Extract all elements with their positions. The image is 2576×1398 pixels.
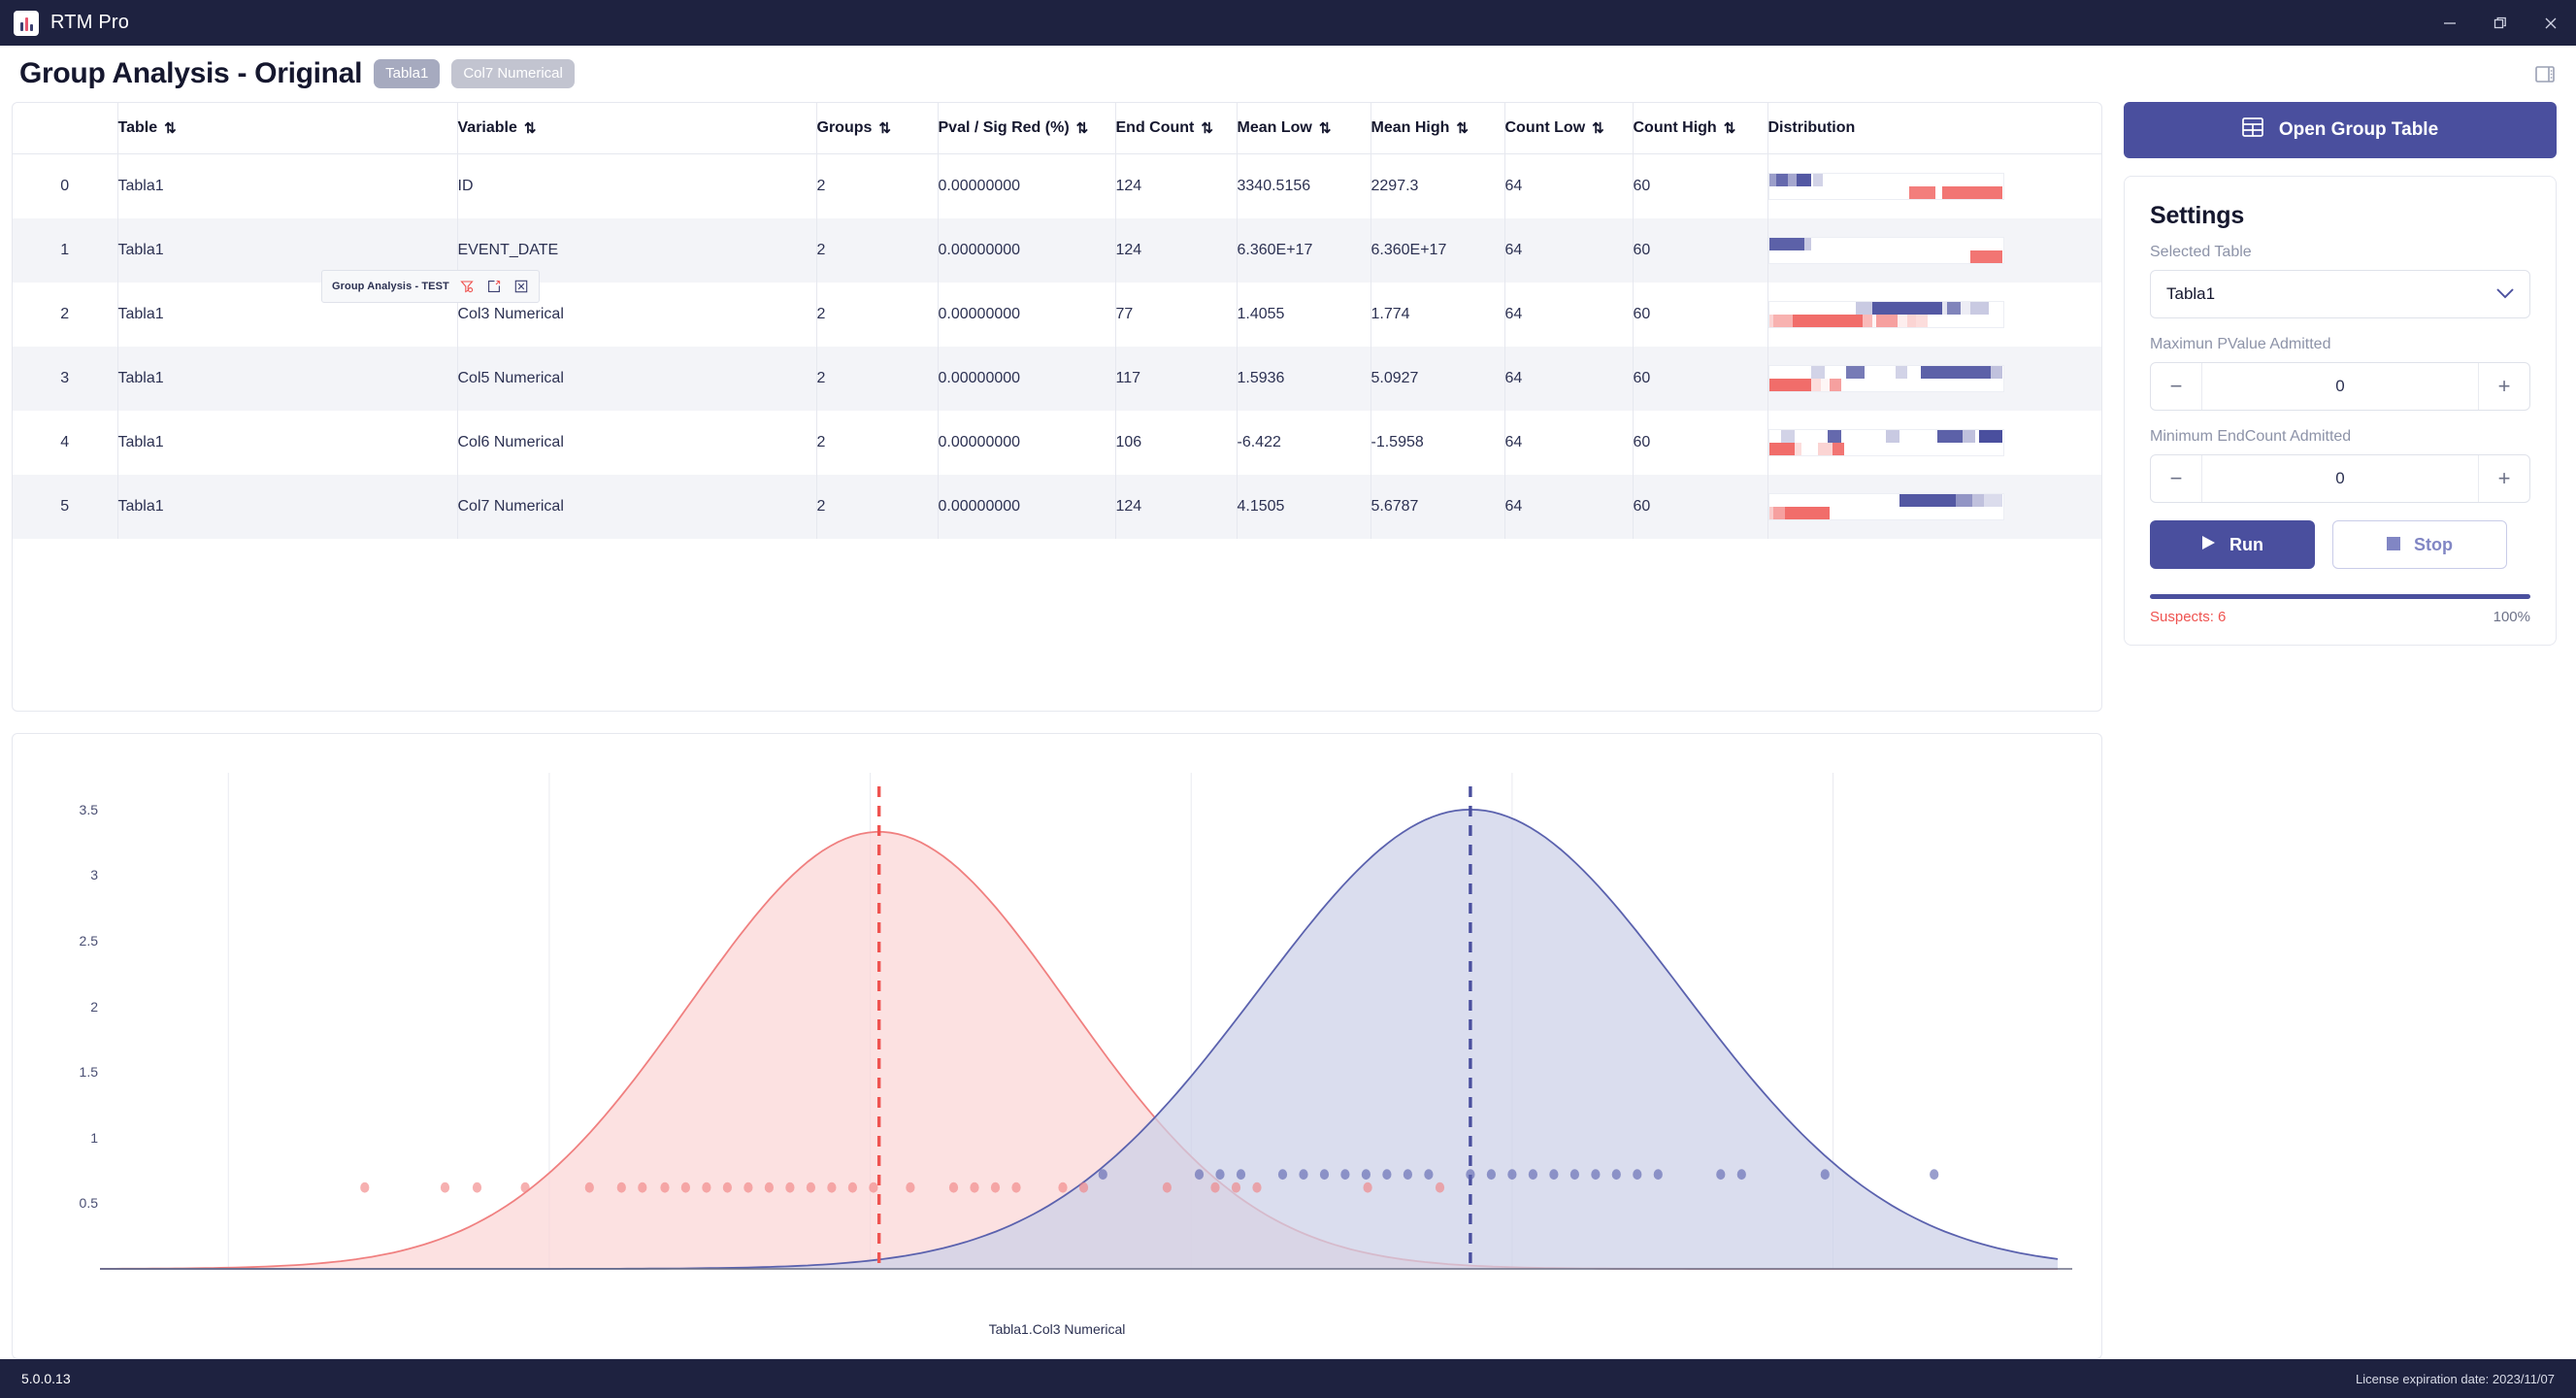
progress-bar	[2150, 594, 2530, 599]
min-endcount-increment-button[interactable]: +	[2479, 455, 2529, 502]
cell-groups: 2	[816, 218, 938, 283]
main-content: Table⇅ Variable⇅ Groups⇅ Pval / Sig Red …	[0, 102, 2576, 1359]
license-expiration: License expiration date: 2023/11/07	[2356, 1372, 2555, 1386]
cell-mean-high: 5.6787	[1371, 475, 1504, 539]
cell-distribution[interactable]	[1767, 411, 2101, 475]
cell-end-count: 106	[1115, 411, 1237, 475]
cell-count-low: 64	[1504, 475, 1633, 539]
cell-end-count: 117	[1115, 347, 1237, 411]
cell-table: Tabla1	[117, 347, 457, 411]
selected-table-value: Tabla1	[2166, 284, 2215, 304]
cell-index: 3	[13, 347, 117, 411]
cell-distribution[interactable]	[1767, 154, 2101, 219]
settings-title: Settings	[2150, 202, 2530, 230]
cell-distribution[interactable]	[1767, 218, 2101, 283]
chart-y-tick: 3.5	[80, 802, 98, 817]
col-header-pval-label: Pval / Sig Red (%)	[939, 119, 1070, 137]
window-titlebar: RTM Pro	[0, 0, 2576, 46]
cell-groups: 2	[816, 475, 938, 539]
cell-mean-low: -6.422	[1237, 411, 1371, 475]
table-row[interactable]: 0Tabla1ID20.000000001243340.51562297.364…	[13, 154, 2101, 219]
cell-groups: 2	[816, 411, 938, 475]
cell-variable: Col5 Numerical	[457, 347, 816, 411]
sort-updown-icon[interactable]: ⇅	[1076, 121, 1087, 136]
cell-mean-low: 6.360E+17	[1237, 218, 1371, 283]
cell-distribution[interactable]	[1767, 283, 2101, 347]
cell-count-high: 60	[1633, 218, 1767, 283]
cell-count-low: 64	[1504, 347, 1633, 411]
cell-mean-high: 1.774	[1371, 283, 1504, 347]
cell-pval: 0.00000000	[938, 475, 1115, 539]
distribution-chart: 0.511.522.533.5 11.21.41.61.82 Tabla1.Co…	[13, 734, 2101, 1358]
chart-y-tick: 1.5	[80, 1064, 98, 1080]
col-header-end-count[interactable]: End Count⇅	[1115, 103, 1237, 154]
stop-button[interactable]: Stop	[2332, 520, 2507, 569]
cell-count-high: 60	[1633, 283, 1767, 347]
cell-groups: 2	[816, 347, 938, 411]
col-header-mean-high[interactable]: Mean High⇅	[1371, 103, 1504, 154]
min-endcount-label: Minimum EndCount Admitted	[2150, 428, 2530, 446]
cell-mean-high: 6.360E+17	[1371, 218, 1504, 283]
col-header-variable-label: Variable	[458, 119, 517, 137]
cell-groups: 2	[816, 283, 938, 347]
header-chip-table[interactable]: Tabla1	[374, 59, 440, 88]
cell-count-low: 64	[1504, 283, 1633, 347]
close-box-icon[interactable]	[512, 278, 531, 296]
table-row[interactable]: 4Tabla1Col6 Numerical20.00000000106-6.42…	[13, 411, 2101, 475]
cell-count-low: 64	[1504, 411, 1633, 475]
cell-end-count: 124	[1115, 154, 1237, 219]
cell-count-high: 60	[1633, 347, 1767, 411]
sort-updown-icon[interactable]: ⇅	[1319, 121, 1330, 136]
restore-icon[interactable]	[2475, 0, 2526, 46]
max-pvalue-label: Maximun PValue Admitted	[2150, 336, 2530, 353]
app-logo-icon	[14, 11, 39, 36]
cell-end-count: 124	[1115, 218, 1237, 283]
col-header-pval[interactable]: Pval / Sig Red (%)⇅	[938, 103, 1115, 154]
cell-pval: 0.00000000	[938, 283, 1115, 347]
chart-svg	[13, 734, 2101, 1358]
cell-variable: Col6 Numerical	[457, 411, 816, 475]
cell-index: 4	[13, 411, 117, 475]
chart-y-tick: 0.5	[80, 1195, 98, 1211]
selected-table-select[interactable]: Tabla1	[2150, 270, 2530, 318]
close-icon[interactable]	[2526, 0, 2576, 46]
col-header-mean-high-label: Mean High	[1371, 119, 1450, 137]
header-chip-column[interactable]: Col7 Numerical	[451, 59, 575, 88]
page-header: Group Analysis - Original Tabla1 Col7 Nu…	[0, 46, 2576, 102]
cell-count-high: 60	[1633, 154, 1767, 219]
cell-index: 5	[13, 475, 117, 539]
progress-legend: Suspects: 6 100%	[2150, 609, 2530, 625]
minimize-icon[interactable]	[2425, 0, 2475, 46]
chevron-down-icon	[2496, 284, 2514, 304]
cell-index: 0	[13, 154, 117, 219]
cell-distribution[interactable]	[1767, 475, 2101, 539]
cell-mean-high: 5.0927	[1371, 347, 1504, 411]
progress-percent: 100%	[2493, 609, 2530, 625]
col-header-mean-low[interactable]: Mean Low⇅	[1237, 103, 1371, 154]
cell-variable: Col7 Numerical	[457, 475, 816, 539]
table-grid-icon	[2242, 117, 2263, 143]
cell-mean-high: 2297.3	[1371, 154, 1504, 219]
col-header-count-low-label: Count Low	[1505, 119, 1586, 137]
chart-y-tick: 2.5	[80, 933, 98, 949]
cell-index: 2	[13, 283, 117, 347]
cell-table: Tabla1	[117, 154, 457, 219]
distribution-chart-card: 0.511.522.533.5 11.21.41.61.82 Tabla1.Co…	[12, 733, 2102, 1359]
cell-count-low: 64	[1504, 154, 1633, 219]
cell-count-low: 64	[1504, 218, 1633, 283]
col-header-count-high-label: Count High	[1634, 119, 1717, 137]
suspects-count: Suspects: 6	[2150, 609, 2226, 625]
cell-pval: 0.00000000	[938, 347, 1115, 411]
toggle-side-panel-icon[interactable]	[2535, 66, 2555, 83]
selected-table-label: Selected Table	[2150, 244, 2530, 261]
sort-updown-icon[interactable]: ⇅	[1592, 121, 1602, 136]
stop-icon	[2387, 535, 2400, 555]
max-pvalue-input[interactable]: 0	[2201, 363, 2479, 410]
max-pvalue-stepper[interactable]: − 0 +	[2150, 362, 2530, 411]
results-table-body: 0Tabla1ID20.000000001243340.51562297.364…	[13, 154, 2101, 540]
results-table-card: Table⇅ Variable⇅ Groups⇅ Pval / Sig Red …	[12, 102, 2102, 712]
cell-count-high: 60	[1633, 411, 1767, 475]
cell-end-count: 124	[1115, 475, 1237, 539]
chart-x-axis-title: Tabla1.Col3 Numerical	[13, 1321, 2101, 1337]
col-header-index	[13, 103, 117, 154]
col-header-distribution: Distribution	[1767, 103, 2101, 154]
window-controls	[2425, 0, 2576, 46]
sort-updown-icon[interactable]: ⇅	[164, 121, 175, 136]
min-endcount-decrement-button[interactable]: −	[2151, 455, 2201, 502]
col-header-distribution-label: Distribution	[1768, 119, 1856, 136]
col-header-mean-low-label: Mean Low	[1238, 119, 1312, 137]
cell-end-count: 77	[1115, 283, 1237, 347]
right-sidebar: Open Group Table Settings Selected Table…	[2124, 102, 2557, 1359]
cell-index: 1	[13, 218, 117, 283]
progress-track	[2150, 594, 2530, 599]
col-header-end-count-label: End Count	[1116, 119, 1195, 137]
col-header-count-high[interactable]: Count High⇅	[1633, 103, 1767, 154]
cell-mean-low: 3340.5156	[1237, 154, 1371, 219]
open-external-icon[interactable]	[485, 278, 504, 296]
cell-mean-high: -1.5958	[1371, 411, 1504, 475]
cell-table: Tabla1	[117, 411, 457, 475]
settings-panel: Settings Selected Table Tabla1 Maximun P…	[2124, 176, 2557, 646]
cell-pval: 0.00000000	[938, 154, 1115, 219]
page-title: Group Analysis - Original	[19, 57, 362, 90]
sort-updown-icon[interactable]: ⇅	[1456, 121, 1467, 136]
left-column: Table⇅ Variable⇅ Groups⇅ Pval / Sig Red …	[12, 102, 2102, 1359]
max-pvalue-increment-button[interactable]: +	[2479, 363, 2529, 410]
cell-mean-low: 1.5936	[1237, 347, 1371, 411]
row-context-tooltip[interactable]: Group Analysis - TEST	[321, 270, 540, 303]
results-table: Table⇅ Variable⇅ Groups⇅ Pval / Sig Red …	[13, 103, 2101, 539]
cell-mean-low: 4.1505	[1237, 475, 1371, 539]
table-row[interactable]: 5Tabla1Col7 Numerical20.000000001244.150…	[13, 475, 2101, 539]
cell-distribution[interactable]	[1767, 347, 2101, 411]
max-pvalue-decrement-button[interactable]: −	[2151, 363, 2201, 410]
status-bar: 5.0.0.13 License expiration date: 2023/1…	[0, 1359, 2576, 1398]
app-version: 5.0.0.13	[21, 1371, 71, 1386]
progress-section: Suspects: 6 100%	[2150, 594, 2530, 625]
cell-pval: 0.00000000	[938, 218, 1115, 283]
min-endcount-stepper[interactable]: − 0 +	[2150, 454, 2530, 503]
results-table-head: Table⇅ Variable⇅ Groups⇅ Pval / Sig Red …	[13, 103, 2101, 154]
sort-updown-icon[interactable]: ⇅	[878, 121, 889, 136]
header-row: Table⇅ Variable⇅ Groups⇅ Pval / Sig Red …	[13, 103, 2101, 154]
cell-mean-low: 1.4055	[1237, 283, 1371, 347]
cell-count-high: 60	[1633, 475, 1767, 539]
col-header-count-low[interactable]: Count Low⇅	[1504, 103, 1633, 154]
stop-button-label: Stop	[2414, 535, 2453, 555]
cell-pval: 0.00000000	[938, 411, 1115, 475]
col-header-variable[interactable]: Variable⇅	[457, 103, 816, 154]
open-group-table-label: Open Group Table	[2279, 119, 2438, 141]
col-header-groups-label: Groups	[817, 119, 873, 137]
row-tooltip-label: Group Analysis - TEST	[332, 281, 449, 292]
cell-variable: ID	[457, 154, 816, 219]
min-endcount-input[interactable]: 0	[2201, 455, 2479, 502]
chart-y-tick: 2	[90, 999, 98, 1015]
table-row[interactable]: 3Tabla1Col5 Numerical20.000000001171.593…	[13, 347, 2101, 411]
cell-groups: 2	[816, 154, 938, 219]
run-button[interactable]: Run	[2150, 520, 2315, 569]
chart-y-axis: 0.511.522.533.5	[48, 734, 98, 1358]
chart-y-tick: 1	[90, 1130, 98, 1146]
action-buttons: Run Stop	[2150, 520, 2530, 569]
col-header-groups[interactable]: Groups⇅	[816, 103, 938, 154]
chart-y-tick: 3	[90, 867, 98, 882]
cell-table: Tabla1	[117, 475, 457, 539]
sort-updown-icon[interactable]: ⇅	[524, 121, 535, 136]
open-group-table-button[interactable]: Open Group Table	[2124, 102, 2557, 158]
sort-updown-icon[interactable]: ⇅	[1724, 121, 1734, 136]
play-icon	[2201, 535, 2216, 555]
sort-updown-icon[interactable]: ⇅	[1201, 121, 1211, 136]
filter-remove-icon[interactable]	[458, 278, 477, 296]
run-button-label: Run	[2229, 535, 2263, 555]
col-header-table-label: Table	[118, 119, 158, 137]
col-header-table[interactable]: Table⇅	[117, 103, 457, 154]
app-title: RTM Pro	[50, 12, 129, 34]
